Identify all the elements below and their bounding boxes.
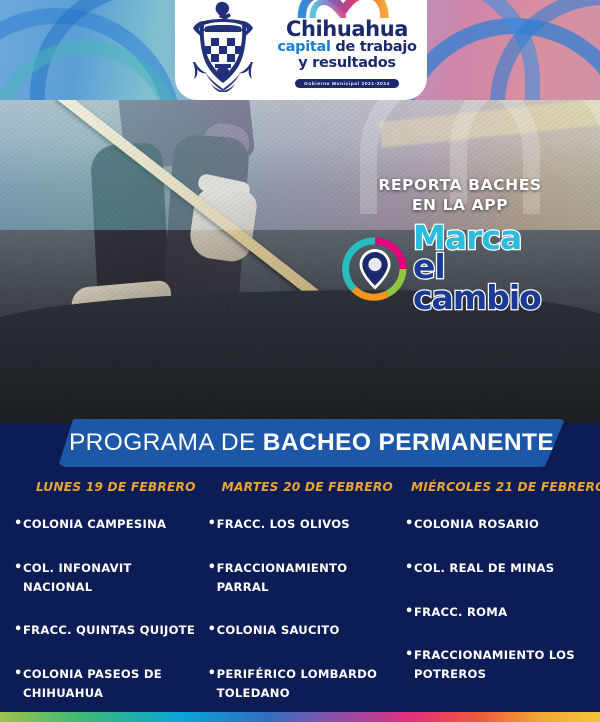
bullet-icon: • xyxy=(208,559,217,577)
road-marking xyxy=(379,100,600,148)
brand-subtitle-line1: capital de trabajo xyxy=(272,40,422,56)
schedule-column-monday: LUNES 19 DE FEBRERO • COLONIA CAMPESINA … xyxy=(0,480,202,722)
rake-tool xyxy=(129,340,326,394)
list-item: • COLONIA ROSARIO xyxy=(405,515,600,534)
app-logo: Marca el cambio xyxy=(342,224,578,313)
worker-silhouette xyxy=(80,100,340,396)
list-item-label: COLONIA PASEOS DE CHIHUAHUA xyxy=(23,665,196,703)
list-item-label: FRACCIONAMIENTO PARRAL xyxy=(217,559,393,597)
app-callout-line2: EN LA APP xyxy=(342,196,578,216)
chihuahua-m-arcs-icon xyxy=(272,0,422,18)
brand-name: Chihuahua xyxy=(272,19,422,40)
list-item-label: COL. INFONAVIT NACIONAL xyxy=(23,559,196,597)
list-item-label: COLONIA SAUCITO xyxy=(217,621,340,640)
list-item: • FRACC. QUINTAS QUIJOTE xyxy=(14,621,196,640)
bullet-icon: • xyxy=(405,559,414,577)
government-logo-card: Chihuahua capital de trabajo y resultado… xyxy=(175,0,427,100)
list-item: • COLONIA SAUCITO xyxy=(208,621,393,640)
app-name: Marca el cambio xyxy=(413,224,578,313)
list-item: • FRACCIONAMIENTO LOS POTREROS xyxy=(405,646,600,684)
coat-of-arms-icon xyxy=(187,0,259,92)
list-item-label: COL. REAL DE MINAS xyxy=(414,559,554,578)
list-item: • FRACC. LOS OLIVOS xyxy=(208,515,393,534)
bullet-icon: • xyxy=(208,665,217,683)
bullet-icon: • xyxy=(14,559,23,577)
bullet-icon: • xyxy=(405,603,414,621)
bullet-icon: • xyxy=(208,515,217,533)
list-item: • COL. REAL DE MINAS xyxy=(405,559,600,578)
list-item-label: FRACC. ROMA xyxy=(414,603,507,622)
brand-government-tag: Gobierno Municipal 2021-2024 xyxy=(295,79,399,88)
schedule-column-tuesday: MARTES 20 DE FEBRERO • FRACC. LOS OLIVOS… xyxy=(202,480,399,722)
list-item-label: FRACCIONAMIENTO LOS POTREROS xyxy=(414,646,600,684)
bullet-icon: • xyxy=(405,515,414,533)
program-title-bold: BACHEO PERMANENTE xyxy=(263,429,554,457)
app-callout-line1: REPORTA BACHES xyxy=(342,176,578,196)
bullet-icon: • xyxy=(14,515,23,533)
bullet-icon: • xyxy=(405,646,414,664)
bullet-icon: • xyxy=(208,621,217,639)
brand-lockup: Chihuahua capital de trabajo y resultado… xyxy=(272,0,422,92)
list-item-label: COLONIA ROSARIO xyxy=(414,515,539,534)
app-name-line2: el cambio xyxy=(413,252,578,313)
day-header-monday: LUNES 19 DE FEBRERO xyxy=(14,480,196,494)
location-pin-icon xyxy=(342,236,408,302)
program-title-light: PROGRAMA DE xyxy=(69,429,256,457)
list-item-label: COLONIA CAMPESINA xyxy=(23,515,166,534)
day-header-wednesday: MIÉRCOLES 21 DE FEBRERO xyxy=(405,480,600,494)
schedule-column-wednesday: MIÉRCOLES 21 DE FEBRERO • COLONIA ROSARI… xyxy=(399,480,600,722)
app-callout: REPORTA BACHES EN LA APP Marca xyxy=(342,176,578,313)
program-title-banner: PROGRAMA DE BACHEO PERMANENTE xyxy=(58,419,565,467)
list-item-label: PERIFÉRICO LOMBARDO TOLEDANO xyxy=(217,665,393,703)
list-item-label: FRACC. LOS OLIVOS xyxy=(217,515,350,534)
list-item: • PERIFÉRICO LOMBARDO TOLEDANO xyxy=(208,665,393,703)
day-header-tuesday: MARTES 20 DE FEBRERO xyxy=(208,480,393,494)
list-item: • FRACCIONAMIENTO PARRAL xyxy=(208,559,393,597)
poster-root: Chihuahua capital de trabajo y resultado… xyxy=(0,0,600,722)
brand-subtitle-line2: y resultados xyxy=(272,56,422,72)
bullet-icon: • xyxy=(14,665,23,683)
rake-teeth xyxy=(140,336,330,373)
list-item: • COLONIA PASEOS DE CHIHUAHUA xyxy=(14,665,196,703)
brand-subtitle-highlight: capital xyxy=(277,39,330,55)
list-item: • COL. INFONAVIT NACIONAL xyxy=(14,559,196,597)
bullet-icon: • xyxy=(14,621,23,639)
list-item: • FRACC. ROMA xyxy=(405,603,600,622)
list-item-label: FRACC. QUINTAS QUIJOTE xyxy=(23,621,195,640)
list-item: • COLONIA CAMPESINA xyxy=(14,515,196,534)
schedule-columns: LUNES 19 DE FEBRERO • COLONIA CAMPESINA … xyxy=(0,480,600,722)
brand-subtitle-rest: de trabajo xyxy=(331,39,417,55)
